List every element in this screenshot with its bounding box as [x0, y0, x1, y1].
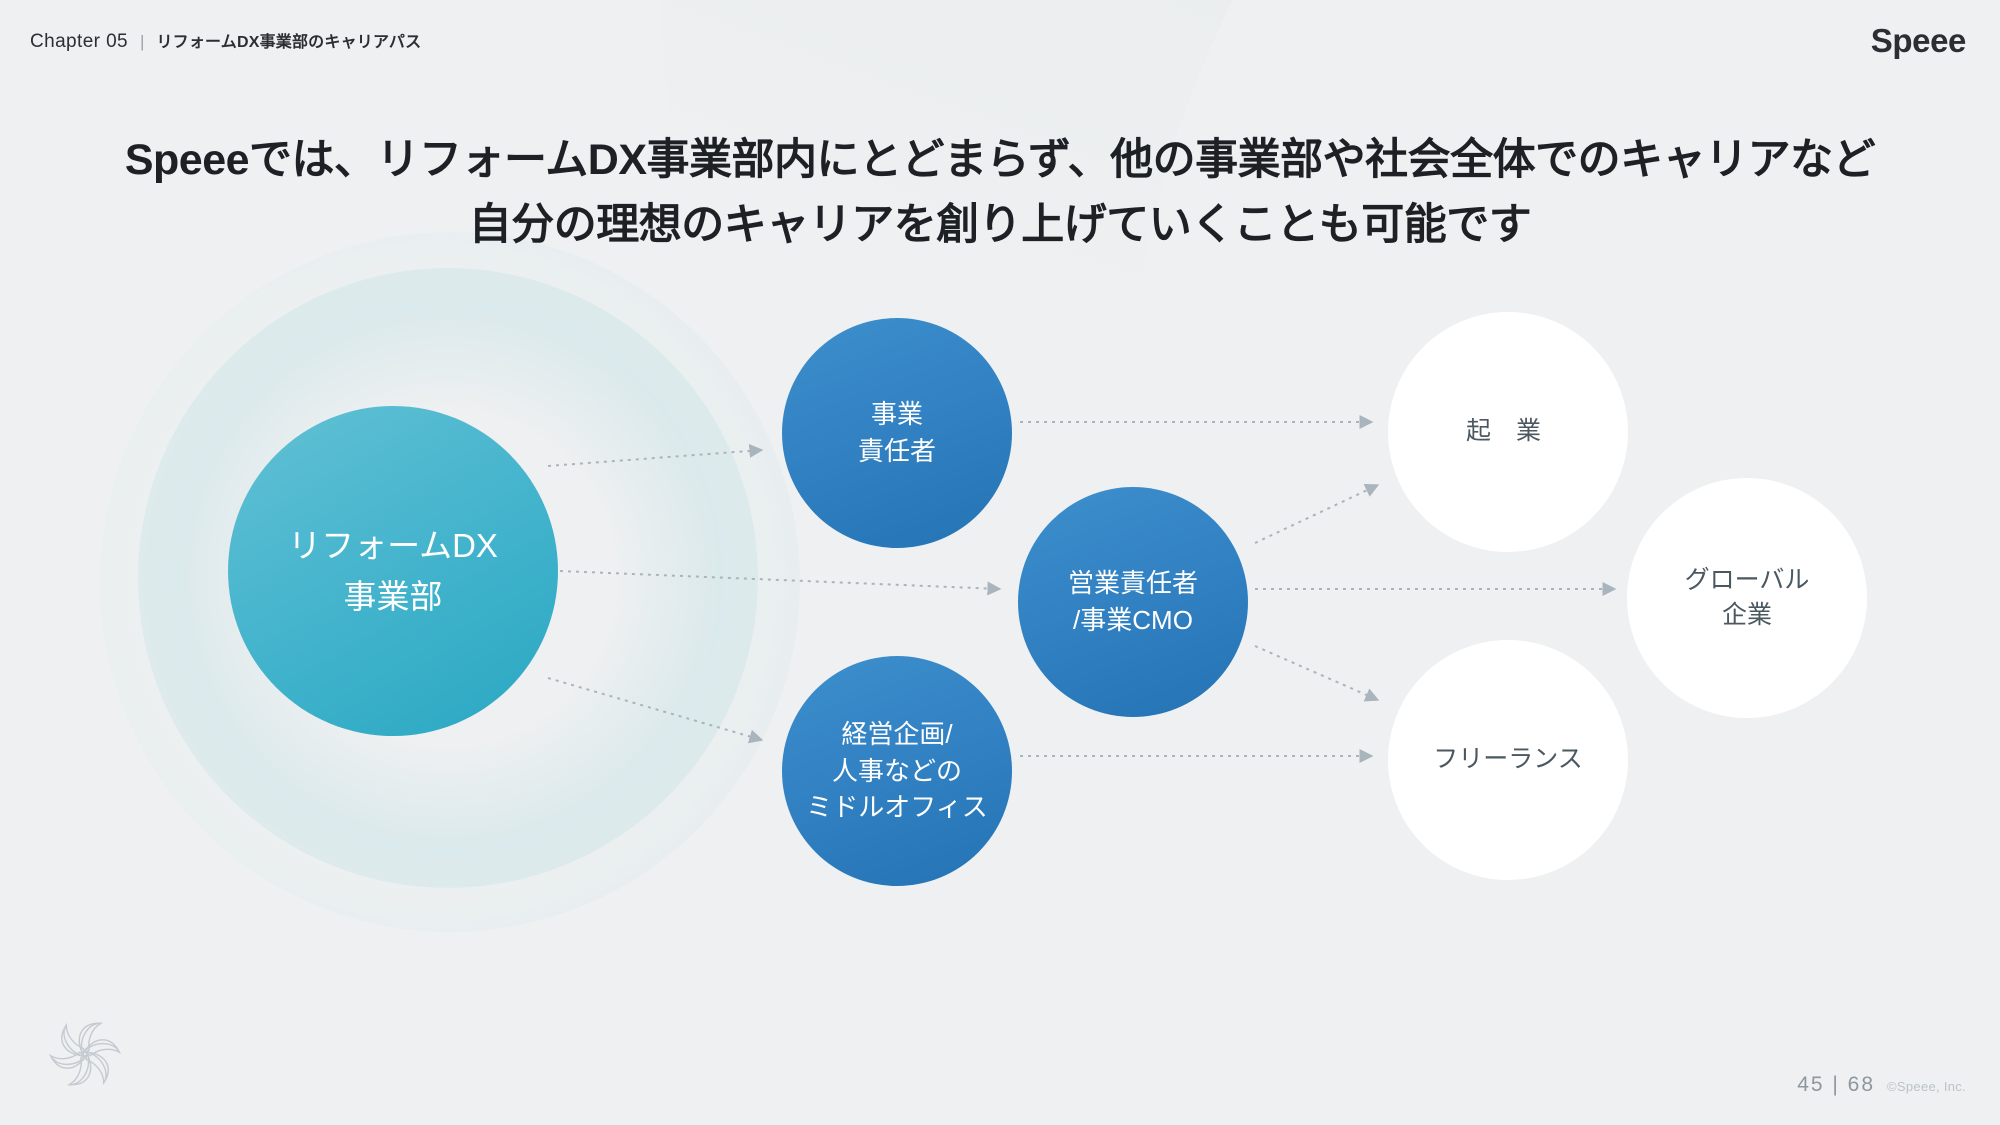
node-freelance[interactable]: フリーランス: [1388, 640, 1628, 880]
node-middle-office[interactable]: 経営企画/ 人事などの ミドルオフィス: [782, 656, 1012, 886]
speee-pinwheel-logo-icon: [42, 1011, 128, 1097]
headline-line-1: Speeeでは、リフォームDX事業部内にとどまらず、他の事業部や社会全体でのキャ…: [0, 128, 2000, 193]
headline-line-2: 自分の理想のキャリアを創り上げていくことも可能です: [0, 193, 2000, 258]
node-business-lead-label: 事業 責任者: [858, 396, 936, 470]
edge-sales-lead-to-freelance: [1255, 646, 1378, 700]
chapter-title: リフォームDX事業部のキャリアパス: [156, 28, 421, 52]
breadcrumb-separator: |: [140, 32, 144, 52]
edge-reformdx-to-business-lead: [548, 450, 762, 466]
node-reform-dx-label: リフォームDX 事業部: [288, 520, 498, 623]
breadcrumb: Chapter 05 | リフォームDX事業部のキャリアパス: [30, 28, 421, 53]
edge-sales-lead-to-startup: [1255, 485, 1378, 543]
footer: 45 | 68 ©Speee, Inc.: [1797, 1073, 1966, 1097]
node-startup[interactable]: 起 業: [1388, 312, 1628, 552]
node-freelance-label: フリーランス: [1433, 742, 1583, 778]
node-sales-lead-cmo-label: 営業責任者 /事業CMO: [1068, 565, 1198, 639]
speee-wordmark: Speee: [1871, 22, 1966, 60]
slide-canvas: Chapter 05 | リフォームDX事業部のキャリアパス Speee Spe…: [0, 0, 2000, 1125]
edge-reformdx-to-middle-office: [548, 678, 762, 740]
page-title: Speeeでは、リフォームDX事業部内にとどまらず、他の事業部や社会全体でのキャ…: [0, 128, 2000, 259]
edge-reformdx-to-sales-lead: [560, 571, 1000, 589]
node-reform-dx[interactable]: リフォームDX 事業部: [228, 406, 558, 736]
page-number: 45 | 68: [1797, 1073, 1875, 1097]
chapter-label: Chapter 05: [30, 31, 128, 53]
node-business-lead[interactable]: 事業 責任者: [782, 318, 1012, 548]
node-sales-lead-cmo[interactable]: 営業責任者 /事業CMO: [1018, 487, 1248, 717]
node-startup-label: 起 業: [1466, 414, 1550, 450]
copyright-notice: ©Speee, Inc.: [1887, 1079, 1966, 1094]
node-global-company-label: グローバル 企業: [1685, 563, 1810, 634]
node-global-company[interactable]: グローバル 企業: [1627, 478, 1867, 718]
node-middle-office-label: 経営企画/ 人事などの ミドルオフィス: [806, 716, 987, 827]
